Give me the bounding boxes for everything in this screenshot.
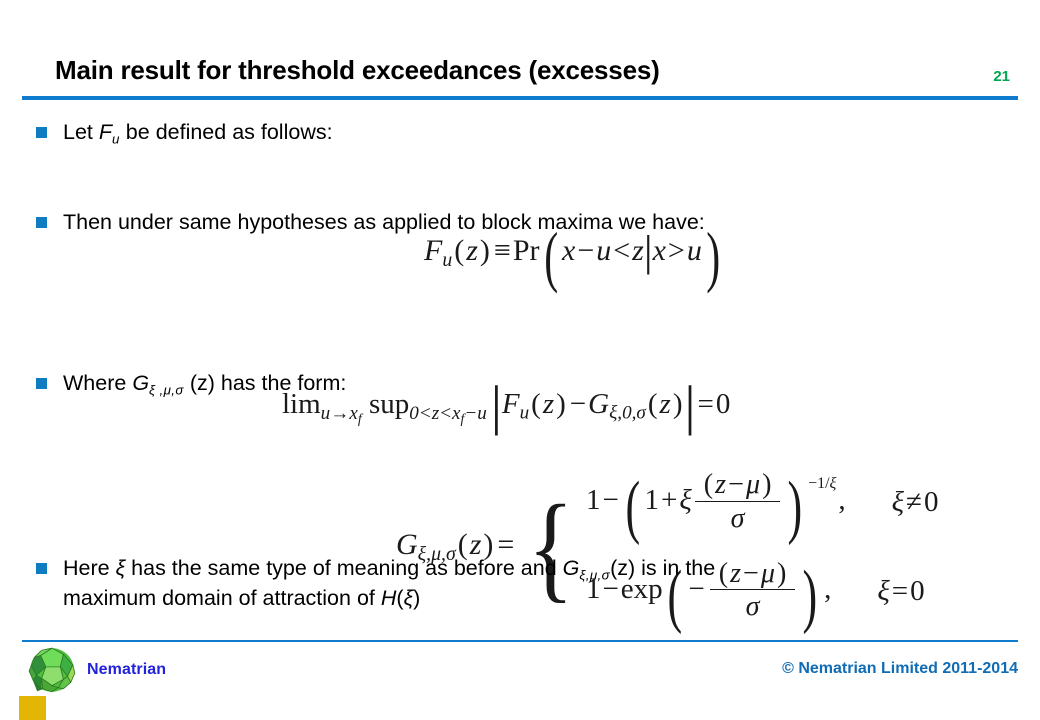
header-divider bbox=[22, 96, 1018, 100]
eq1-greater-than: > bbox=[666, 234, 687, 267]
eq3c1-comma: , bbox=[836, 484, 847, 516]
bullet4-g-subscript: ξ,μ,σ bbox=[579, 567, 610, 582]
bullet4-line2-text: maximum domain of attraction of bbox=[63, 586, 381, 610]
eq2-lim-subscript: u→xf bbox=[321, 403, 362, 424]
eq1-paren-close: ) bbox=[478, 234, 492, 267]
eq2-lim-sub-arrow: → bbox=[330, 403, 349, 424]
eq2-lim-sub-xf: f bbox=[358, 411, 362, 426]
eq2-minus: − bbox=[568, 388, 588, 420]
eq2-g-arg: z bbox=[660, 388, 671, 420]
eq3c1-denominator-sigma: σ bbox=[695, 501, 781, 535]
eq2-g-subscript: ξ,0,σ bbox=[609, 403, 646, 424]
brand-logo[interactable]: Nematrian bbox=[26, 644, 166, 696]
eq1-x2: x bbox=[653, 234, 666, 267]
eq3c1-paren-open: ( bbox=[625, 485, 640, 529]
bullet4-lead-text: Here bbox=[63, 556, 116, 580]
page-number: 21 bbox=[993, 68, 1010, 85]
eq1-less-than: < bbox=[611, 234, 632, 267]
bullet-variable-f: F bbox=[99, 120, 112, 144]
page-title: Main result for threshold exceedances (e… bbox=[55, 55, 660, 86]
eq3c1-minus: − bbox=[600, 484, 620, 516]
slide-content: Let Fu be defined as follows: Fu(z)≡Pr(x… bbox=[0, 104, 1040, 634]
bullet-text-let-fu: Let Fu be defined as follows: bbox=[63, 118, 333, 148]
eq1-equivalence-sign: ≡ bbox=[492, 234, 513, 267]
bullet-item-where-g: Where Gξ ,μ,σ (z) has the form: bbox=[36, 369, 346, 399]
slide-header: Main result for threshold exceedances (e… bbox=[0, 0, 1040, 104]
nematrian-polyhedron-icon bbox=[26, 644, 78, 696]
bullet4-mid-text: has the same type of meaning as before a… bbox=[125, 556, 562, 580]
eq2-sup-sub-range: 0<z<x bbox=[409, 403, 460, 424]
eq3c1-paren-close: ) bbox=[788, 485, 803, 529]
eq2-g: G bbox=[588, 388, 609, 420]
eq3c1-plus: + bbox=[659, 484, 679, 516]
eq1-u2: u bbox=[687, 234, 702, 267]
eq3c1-num-mu: μ bbox=[746, 469, 760, 500]
bullet4-h-xi: ξ bbox=[404, 586, 414, 610]
eq2-lim-sub-u: u bbox=[321, 403, 331, 424]
bullet-lead-text: Let bbox=[63, 120, 99, 144]
eq2-f-paren-close: ) bbox=[554, 388, 568, 420]
bullet3-variable-g: G bbox=[132, 371, 149, 395]
corner-accent-square bbox=[19, 696, 46, 720]
eq3c1-num-paren-open: ( bbox=[702, 469, 715, 500]
bullet-tail-text: be defined as follows: bbox=[120, 120, 333, 144]
bullet4-g: G bbox=[563, 556, 580, 580]
bullet-item-meaning: Here ξ has the same type of meaning as b… bbox=[36, 554, 916, 612]
eq1-paren-open: ( bbox=[452, 234, 466, 267]
eq2-g-paren-close: ) bbox=[671, 388, 685, 420]
slide-footer: Nematrian © Nematrian Limited 2011-2014 bbox=[0, 634, 1040, 720]
eq3c1-cond-not-equal: ≠ bbox=[904, 486, 924, 518]
eq3c1-cond-zero: 0 bbox=[924, 486, 939, 518]
bullet3-subscript-params: ξ ,μ,σ bbox=[149, 382, 184, 397]
eq2-equals: = bbox=[696, 388, 716, 420]
eq1-x1: x bbox=[562, 234, 575, 267]
bullet-text-where-g: Where Gξ ,μ,σ (z) has the form: bbox=[63, 369, 346, 399]
eq3c1-numerator: (z−μ) bbox=[695, 470, 781, 501]
bullet-square-icon bbox=[36, 563, 47, 574]
bullet4-h-paren-close: ) bbox=[413, 586, 420, 610]
bullet-square-icon bbox=[36, 127, 47, 138]
eq2-abs-bar-open: | bbox=[487, 384, 502, 428]
eq2-sup-subscript: 0<z<xf−u bbox=[409, 403, 487, 424]
bullet4-xi: ξ bbox=[116, 556, 126, 580]
eq3c1-one: 1 bbox=[586, 484, 601, 516]
bullet-item-let-fu: Let Fu be defined as follows: bbox=[36, 118, 333, 148]
bullet4-tail-text: (z) is in the bbox=[610, 556, 715, 580]
bullet-subscript-u: u bbox=[112, 131, 120, 146]
eq1-z1: z bbox=[632, 234, 644, 267]
eq3-case1-condition: ξ≠0 bbox=[848, 486, 939, 519]
bullet4-h-paren-open: ( bbox=[396, 586, 403, 610]
eq1-f-subscript: u bbox=[442, 249, 452, 271]
bullet-text-meaning: Here ξ has the same type of meaning as b… bbox=[63, 554, 715, 612]
eq3c1-num-minus: − bbox=[726, 469, 746, 500]
eq2-f-arg: z bbox=[543, 388, 554, 420]
eq2-rhs-zero: 0 bbox=[716, 388, 731, 420]
brand-name: Nematrian bbox=[87, 661, 166, 679]
bullet-item-hypotheses: Then under same hypotheses as applied to… bbox=[36, 208, 705, 236]
eq2-f-paren-open: ( bbox=[529, 388, 543, 420]
copyright-notice: © Nematrian Limited 2011-2014 bbox=[782, 660, 1018, 678]
eq3c1-num-paren-close: ) bbox=[760, 469, 773, 500]
eq3c1-exponent-minus-one-over: −1/ bbox=[808, 475, 829, 492]
eq1-big-paren-close: ) bbox=[706, 236, 720, 278]
eq1-pr-operator: Pr bbox=[513, 234, 540, 267]
bullet3-lead-text: Where bbox=[63, 371, 132, 395]
eq2-lim-sub-x: x bbox=[349, 403, 358, 424]
eq1-z: z bbox=[466, 234, 478, 267]
bullet4-h: H bbox=[381, 586, 397, 610]
bullet-square-icon bbox=[36, 378, 47, 389]
eq2-sup-sub-tail: −u bbox=[464, 403, 486, 424]
eq1-minus: − bbox=[575, 234, 596, 267]
eq3c1-xi: ξ bbox=[679, 484, 691, 516]
eq3-case1-expression: 1−(1+ξ(z−μ)σ)−1/ξ, bbox=[586, 470, 848, 535]
bullet-text-hypotheses: Then under same hypotheses as applied to… bbox=[63, 208, 705, 236]
eq2-f: F bbox=[502, 388, 520, 420]
eq3c1-exponent: −1/ξ bbox=[808, 475, 836, 493]
eq3c1-fraction: (z−μ)σ bbox=[695, 470, 781, 535]
bullet3-tail-text: (z) has the form: bbox=[184, 371, 347, 395]
eq2-abs-bar-close: | bbox=[685, 384, 696, 428]
eq1-big-paren-open: ( bbox=[544, 236, 558, 278]
eq2-g-paren-open: ( bbox=[646, 388, 660, 420]
eq1-u1: u bbox=[596, 234, 611, 267]
eq3c1-cond-xi: ξ bbox=[892, 486, 904, 518]
equation-conditional-excess: Fu(z)≡Pr(x−u<z|x>u) bbox=[424, 234, 724, 278]
eq3c1-num-z: z bbox=[715, 469, 726, 500]
bullet-square-icon bbox=[36, 217, 47, 228]
eq2-sup-operator: sup bbox=[369, 388, 409, 420]
eq1-conditional-bar: | bbox=[644, 234, 653, 269]
footer-divider bbox=[22, 640, 1018, 642]
eq1-f: F bbox=[424, 234, 442, 267]
equation-limit-sup: limu→xf sup0<z<xf−u|Fu(z)−Gξ,0,σ(z)|=0 bbox=[282, 384, 730, 428]
eq3-case-xi-nonzero: 1−(1+ξ(z−μ)σ)−1/ξ, ξ≠0 bbox=[586, 470, 939, 535]
eq2-f-subscript: u bbox=[520, 403, 530, 424]
eq3c1-inner-one: 1 bbox=[644, 484, 659, 516]
